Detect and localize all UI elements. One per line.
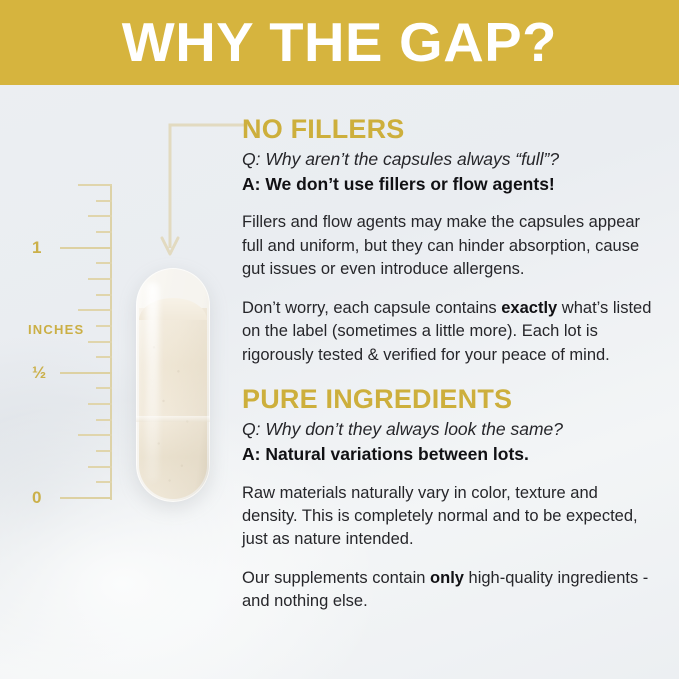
section-question-1: Q: Why don’t they always look the same? <box>242 418 652 442</box>
ruler-tick <box>78 434 112 436</box>
header-banner: WHY THE GAP? <box>0 0 679 85</box>
emphasis-text: only <box>430 569 464 587</box>
body-text: Raw materials naturally vary in color, t… <box>242 484 638 549</box>
section-1-paragraph-1: Our supplements contain only high-qualit… <box>242 567 652 614</box>
ruler-tick <box>96 481 112 483</box>
capsule-highlight <box>146 282 159 482</box>
section-answer-0: A: We don’t use fillers or flow agents! <box>242 173 652 197</box>
section-heading-0: NO FILLERS <box>242 114 652 144</box>
inch-ruler: 1½0 <box>22 185 134 515</box>
ruler-label-2: 0 <box>32 489 41 506</box>
infographic-page: WHY THE GAP? 1½0 INCHES NO FILLERSQ: Why… <box>0 0 679 679</box>
section-spacer <box>242 367 652 384</box>
ruler-tick <box>96 325 112 327</box>
ruler-tick <box>78 184 112 186</box>
ruler-tick <box>88 466 112 468</box>
ruler-tick <box>96 387 112 389</box>
section-0-paragraph-0: Fillers and flow agents may make the cap… <box>242 211 652 281</box>
ruler-tick <box>88 341 112 343</box>
ruler-tick <box>78 309 112 311</box>
section-0-paragraph-1: Don’t worry, each capsule contains exact… <box>242 297 652 367</box>
ruler-tick <box>60 247 112 249</box>
body-text: Fillers and flow agents may make the cap… <box>242 213 640 278</box>
ruler-tick <box>88 403 112 405</box>
capsule-image <box>136 268 210 502</box>
section-heading-1: PURE INGREDIENTS <box>242 384 652 414</box>
capsule-shell <box>136 268 210 502</box>
section-question-0: Q: Why aren’t the capsules always “full”… <box>242 148 652 172</box>
ruler-tick <box>96 294 112 296</box>
section-1-paragraph-0: Raw materials naturally vary in color, t… <box>242 482 652 552</box>
body-text: Don’t worry, each capsule contains <box>242 299 501 317</box>
callout-arrow-icon <box>160 122 250 260</box>
ruler-tick <box>96 419 112 421</box>
body-text: Our supplements contain <box>242 569 430 587</box>
ruler-tick <box>96 200 112 202</box>
ruler-tick <box>60 497 112 499</box>
ruler-label-1: ½ <box>32 364 46 381</box>
emphasis-text: exactly <box>501 299 557 317</box>
ruler-unit-label: INCHES <box>28 322 84 337</box>
ruler-label-0: 1 <box>32 239 41 256</box>
ruler-tick <box>88 215 112 217</box>
section-answer-1: A: Natural variations between lots. <box>242 443 652 467</box>
ruler-tick <box>88 278 112 280</box>
ruler-tick <box>96 262 112 264</box>
page-title: WHY THE GAP? <box>122 15 557 70</box>
ruler-tick <box>60 372 112 374</box>
ruler-tick <box>96 450 112 452</box>
ruler-tick <box>96 231 112 233</box>
content-column: NO FILLERSQ: Why aren’t the capsules alw… <box>242 114 652 614</box>
ruler-tick <box>96 356 112 358</box>
